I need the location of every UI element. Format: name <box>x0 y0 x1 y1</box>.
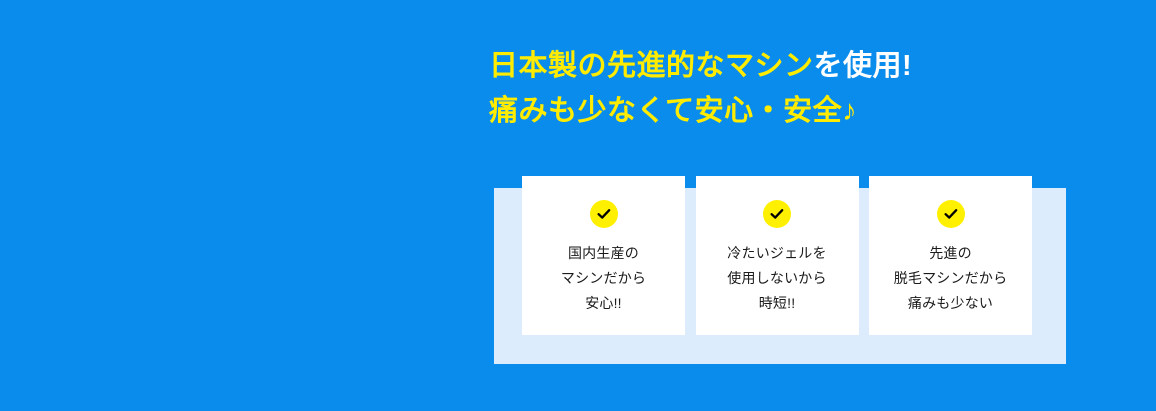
feature-card-line: 国内生産の <box>561 241 646 266</box>
feature-card-line: 時短!! <box>727 291 826 316</box>
feature-card-line: マシンだから <box>561 266 646 291</box>
headline-line-1: 日本製の先進的なマシンを使用! <box>489 44 1109 89</box>
feature-card-text: 冷たいジェルを 使用しないから 時短!! <box>727 241 826 316</box>
feature-card-line: 使用しないから <box>727 266 826 291</box>
headline-line-1-rest: を使用! <box>814 50 913 82</box>
promo-banner: 日本製の先進的なマシンを使用! 痛みも少なくて安心・安全♪ 国内生産の マシンだ… <box>0 0 1156 411</box>
check-icon <box>590 200 618 228</box>
feature-card: 国内生産の マシンだから 安心!! <box>522 176 685 335</box>
feature-card-line: 先進の <box>894 241 1008 266</box>
feature-card-text: 先進の 脱毛マシンだから 痛みも少ない <box>894 241 1008 316</box>
page-title: 日本製の先進的なマシンを使用! 痛みも少なくて安心・安全♪ <box>489 44 1109 134</box>
check-icon <box>763 200 791 228</box>
headline-line-1-highlight: 日本製の先進的なマシン <box>489 50 814 82</box>
feature-cards: 国内生産の マシンだから 安心!! 冷たいジェルを 使用しないから 時短!! <box>522 176 1032 335</box>
feature-card-line: 安心!! <box>561 291 646 316</box>
feature-card: 先進の 脱毛マシンだから 痛みも少ない <box>869 176 1032 335</box>
headline-line-2: 痛みも少なくて安心・安全♪ <box>489 89 1109 134</box>
feature-card-line: 冷たいジェルを <box>727 241 826 266</box>
feature-card-line: 脱毛マシンだから <box>894 266 1008 291</box>
feature-card-text: 国内生産の マシンだから 安心!! <box>561 241 646 316</box>
check-icon <box>937 200 965 228</box>
feature-card: 冷たいジェルを 使用しないから 時短!! <box>696 176 859 335</box>
feature-card-line: 痛みも少ない <box>894 291 1008 316</box>
